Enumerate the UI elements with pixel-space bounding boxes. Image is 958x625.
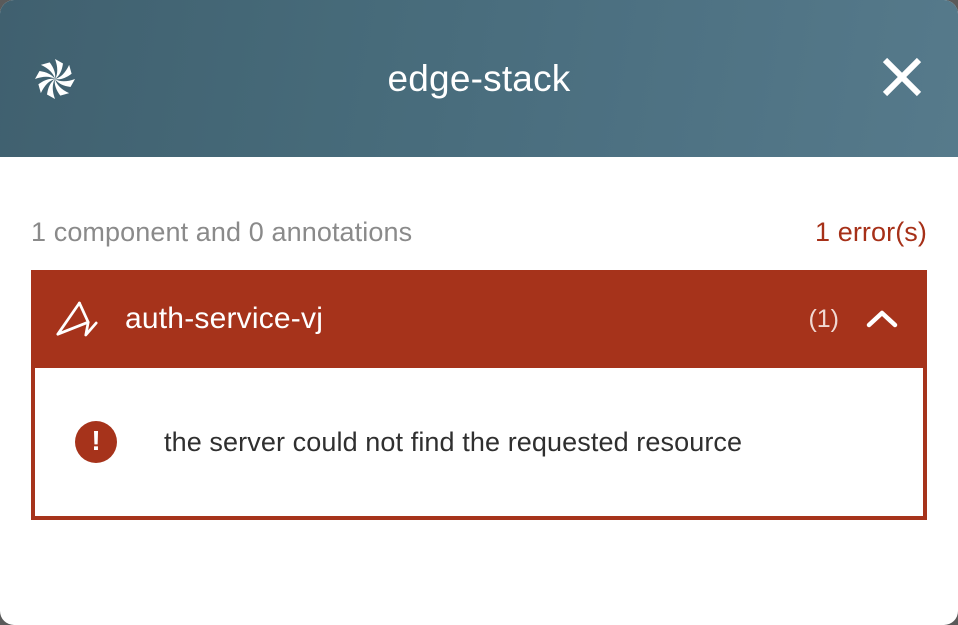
component-header-right: (1) [808, 305, 899, 334]
component-name-label: auth-service-vj [125, 302, 323, 336]
dialog-header: edge-stack [0, 0, 958, 157]
close-icon [879, 54, 925, 103]
exclamation-icon: ! [75, 421, 117, 463]
component-summary-label: 1 component and 0 annotations [31, 217, 412, 248]
pinwheel-logo-icon [30, 54, 80, 104]
component-header-auth-service-vj[interactable]: auth-service-vj (1) [31, 270, 927, 368]
page-title: edge-stack [0, 58, 958, 100]
edge-stack-dialog: edge-stack 1 component and 0 annotations… [0, 0, 958, 625]
exclamation-glyph: ! [91, 427, 100, 455]
error-message-text: the server could not find the requested … [164, 427, 742, 458]
component-group: auth-service-vj (1) ! the server could n [31, 270, 927, 520]
error-count-label: 1 error(s) [815, 217, 927, 248]
list-item: ! the server could not find the requeste… [75, 421, 742, 463]
component-error-count-badge: (1) [808, 305, 839, 334]
component-error-panel: ! the server could not find the requeste… [31, 368, 927, 520]
ambassador-mark-icon [53, 299, 101, 339]
chevron-up-icon[interactable] [865, 308, 899, 330]
dialog-body: 1 component and 0 annotations 1 error(s)… [0, 157, 958, 520]
close-button[interactable] [876, 53, 928, 105]
summary-row: 1 component and 0 annotations 1 error(s) [31, 157, 927, 268]
